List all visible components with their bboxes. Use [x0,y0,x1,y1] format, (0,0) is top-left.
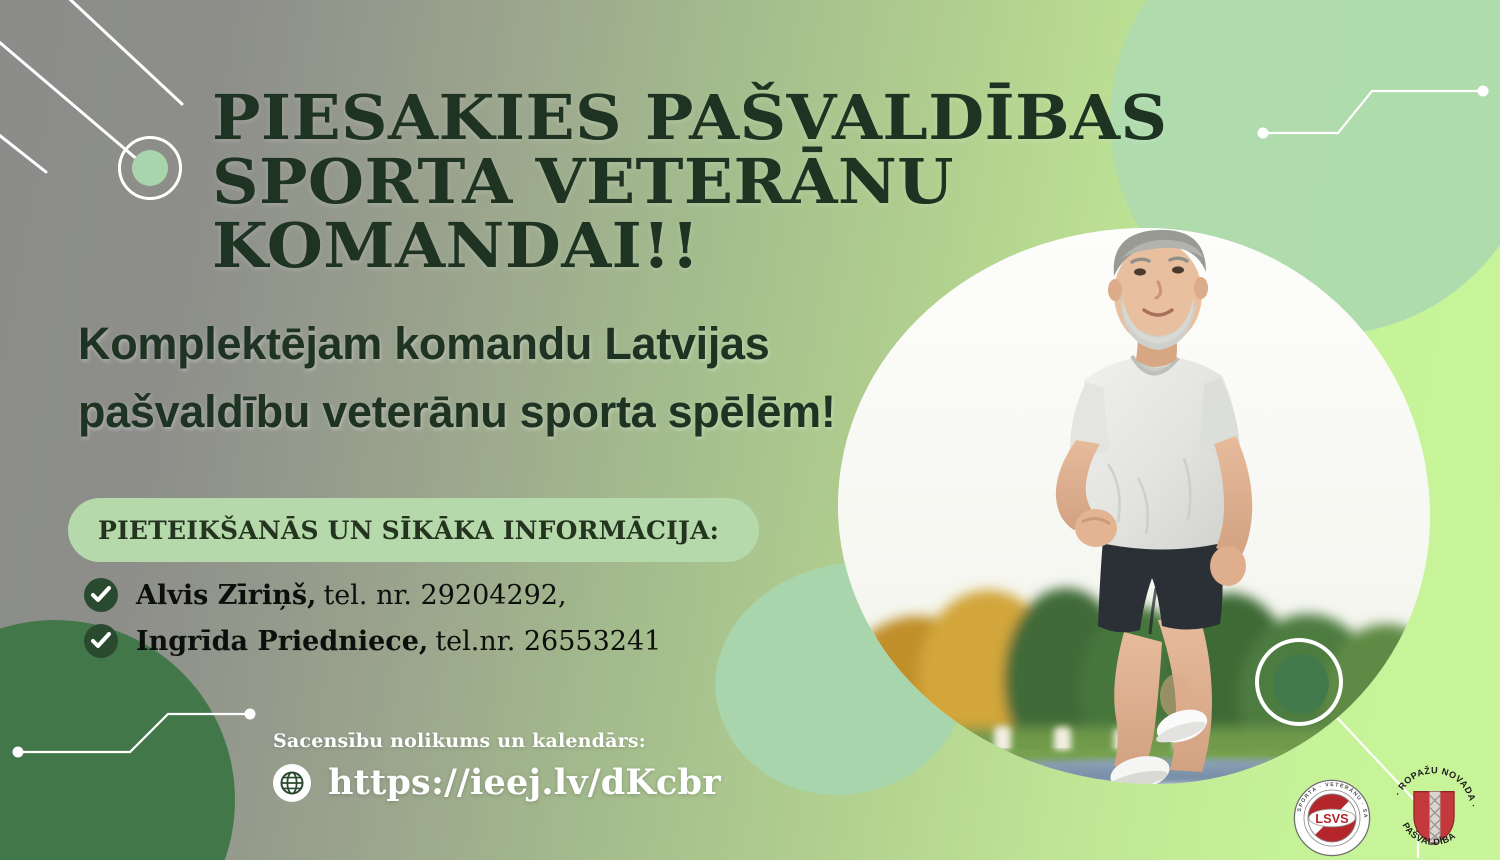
contact-phone: tel.nr. 26553241 [435,626,661,657]
check-circle-icon [84,578,118,612]
svg-text:LSVS: LSVS [1315,811,1349,826]
logo-row: LSVS SPORTA · VETERĀNU · SAVIENĪBA [1292,762,1482,858]
page-subtitle: Komplektējam komandu Latvijas pašvaldību… [78,310,958,447]
poster-canvas: PIESAKIES PAŠVALDĪBAS SPORTA VETERĀNU KO… [0,0,1500,860]
globe-icon [273,764,311,802]
page-title: PIESAKIES PAŠVALDĪBAS SPORTA VETERĀNU KO… [212,86,1377,278]
lsvs-logo: LSVS SPORTA · VETERĀNU · SAVIENĪBA [1292,778,1372,858]
connector-bottom-left-icon [10,700,260,760]
link-block: Sacensību nolikums un kalendārs: https:/… [273,730,721,803]
url-row[interactable]: https://ieej.lv/dKcbr [273,762,721,803]
list-item: Alvis Zīriņš, tel. nr. 29204292, [84,578,844,612]
info-pill-badge: PIETEIKŠANĀS UN SĪKĀKA INFORMĀCIJA: [68,498,759,562]
ring-dot-top-left-icon [118,136,182,200]
registration-url[interactable]: https://ieej.lv/dKcbr [328,762,721,803]
contact-name: Ingrīda Priedniece, [136,626,428,657]
check-circle-icon [84,624,118,658]
contact-name: Alvis Zīriņš, [136,580,316,611]
contact-phone: tel. nr. 29204292, [323,580,566,611]
list-item: Ingrīda Priedniece, tel.nr. 26553241 [84,624,844,658]
contact-list: Alvis Zīriņš, tel. nr. 29204292, Ingrīda… [84,578,844,670]
ropazi-logo: · ROPAŽU NOVADA · PAŠVALDĪBA [1386,762,1482,858]
link-caption: Sacensību nolikums un kalendārs: [273,730,721,752]
